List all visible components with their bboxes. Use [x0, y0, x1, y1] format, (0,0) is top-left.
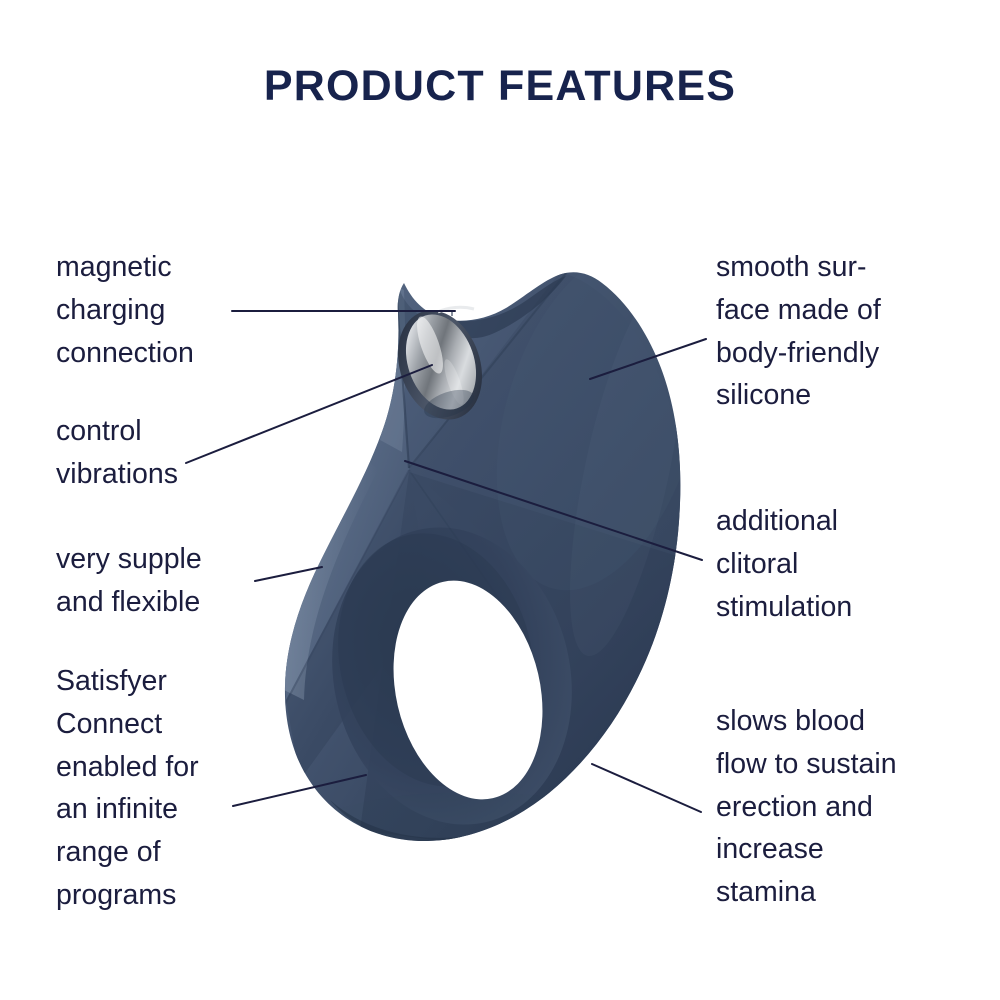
product-body	[282, 226, 740, 872]
leader-additional-clitoral	[405, 461, 702, 560]
magnetic-metal-control-button	[384, 299, 496, 431]
charging-contacts	[438, 307, 474, 316]
leader-control-vibrations	[186, 365, 432, 463]
leader-slows-blood-flow	[592, 764, 701, 812]
product-features-infographic: PRODUCT FEATURES	[0, 0, 1000, 1000]
callout-magnetic-charging-connection: magnetic charging connection	[56, 246, 194, 374]
callout-satisfyer-connect-enabled: Satisfyer Connect enabled for an infinit…	[56, 660, 199, 917]
leader-lines	[186, 311, 706, 812]
leader-very-supple	[255, 567, 322, 581]
callout-additional-clitoral-stimulation: additional clitoral stimulation	[716, 500, 852, 628]
page-title: PRODUCT FEATURES	[0, 62, 1000, 111]
callout-very-supple-and-flexible: very supple and flexible	[56, 538, 202, 624]
leader-satisfyer-connect	[233, 775, 366, 806]
callout-slows-blood-flow: slows blood flow to sustain erection and…	[716, 700, 897, 914]
leader-smooth-surface	[590, 339, 706, 379]
callout-control-vibrations: control vibrations	[56, 410, 178, 496]
callout-smooth-surface-silicone: smooth sur- face made of body-friendly s…	[716, 246, 881, 417]
